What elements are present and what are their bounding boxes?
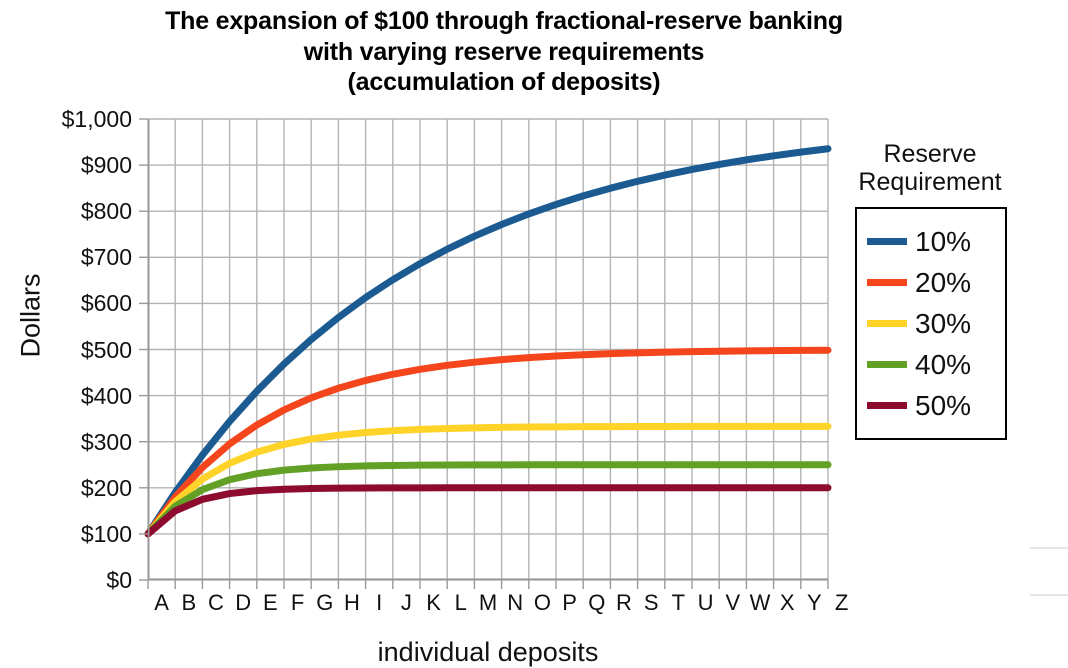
x-tick-label: H <box>344 592 360 614</box>
x-tick-label: Z <box>835 592 848 614</box>
series-line-50pct <box>148 488 828 534</box>
x-tick-label: N <box>507 592 523 614</box>
x-tick-label: I <box>376 592 382 614</box>
y-tick-label: $800 <box>42 200 132 223</box>
chart-title-line-1: The expansion of $100 through fractional… <box>60 6 948 37</box>
chart-title: The expansion of $100 through fractional… <box>60 6 948 98</box>
x-tick-label: W <box>750 592 771 614</box>
chart-title-line-2: with varying reserve requirements <box>60 37 948 68</box>
legend-title-line-1: Reserve <box>846 140 1014 168</box>
legend-title-line-2: Requirement <box>846 168 1014 196</box>
x-tick-label: B <box>181 592 196 614</box>
legend-item[interactable]: 40% <box>865 344 995 385</box>
x-tick-label: O <box>534 592 551 614</box>
chart-container: The expansion of $100 through fractional… <box>0 0 1068 668</box>
legend-color-swatch <box>867 238 907 245</box>
legend-item[interactable]: 10% <box>865 221 995 262</box>
x-tick-label: J <box>401 592 412 614</box>
y-tick-label: $0 <box>42 569 132 592</box>
series-line-30pct <box>148 426 828 534</box>
legend-item[interactable]: 20% <box>865 262 995 303</box>
legend-color-swatch <box>867 279 907 286</box>
y-tick-label: $700 <box>42 246 132 269</box>
plot-area <box>136 117 816 578</box>
legend-item[interactable]: 50% <box>865 385 995 426</box>
x-tick-label: K <box>426 592 441 614</box>
chart-title-line-3: (accumulation of deposits) <box>60 67 948 98</box>
x-tick-label: F <box>291 592 304 614</box>
x-tick-label: V <box>725 592 740 614</box>
x-tick-label: G <box>316 592 333 614</box>
x-tick-label: L <box>455 592 467 614</box>
x-tick-label: Y <box>807 592 822 614</box>
x-tick-label: T <box>672 592 685 614</box>
page-artifact-rule-1 <box>1030 547 1068 549</box>
y-tick-label: $300 <box>42 431 132 454</box>
legend-title: Reserve Requirement <box>846 140 1014 196</box>
x-tick-label: C <box>208 592 224 614</box>
x-tick-label: P <box>562 592 577 614</box>
y-tick-label: $600 <box>42 292 132 315</box>
legend-item-label: 10% <box>915 228 971 256</box>
x-tick-label: Q <box>588 592 605 614</box>
x-tick-label: D <box>235 592 251 614</box>
legend-color-swatch <box>867 320 907 327</box>
y-tick-label: $900 <box>42 154 132 177</box>
x-tick-label: R <box>616 592 632 614</box>
legend-box: 10%20%30%40%50% <box>855 207 1007 440</box>
series-line-40pct <box>148 465 828 534</box>
x-tick-label: M <box>479 592 497 614</box>
plot-svg <box>136 117 840 594</box>
x-tick-label: X <box>780 592 795 614</box>
legend-item-label: 50% <box>915 392 971 420</box>
y-axis-tick-labels: $1,000$900$800$700$600$500$400$300$200$1… <box>42 119 132 580</box>
y-tick-label: $500 <box>42 339 132 362</box>
legend-item-label: 30% <box>915 310 971 338</box>
x-tick-label: A <box>154 592 169 614</box>
series-lines <box>148 149 828 534</box>
x-axis-tick-labels: ABCDEFGHIJKLMNOPQRSTUVWXYZ <box>148 592 828 620</box>
y-tick-label: $200 <box>42 477 132 500</box>
x-tick-label: E <box>263 592 278 614</box>
legend-color-swatch <box>867 402 907 409</box>
y-tick-label: $100 <box>42 523 132 546</box>
y-tick-label: $1,000 <box>42 108 132 131</box>
legend: Reserve Requirement 10%20%30%40%50% <box>846 140 1014 440</box>
legend-item-label: 20% <box>915 269 971 297</box>
x-tick-label: S <box>644 592 659 614</box>
x-tick-label: U <box>698 592 714 614</box>
legend-item-label: 40% <box>915 351 971 379</box>
y-tick-label: $400 <box>42 385 132 408</box>
legend-color-swatch <box>867 361 907 368</box>
legend-item[interactable]: 30% <box>865 303 995 344</box>
page-artifact-rule-2 <box>1030 594 1068 596</box>
x-axis-title: individual deposits <box>148 637 828 668</box>
